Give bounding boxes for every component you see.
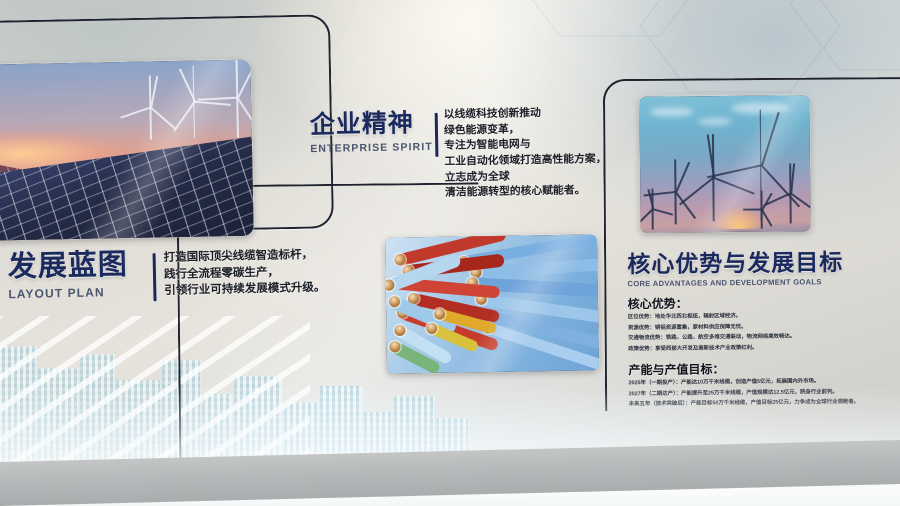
enterprise-spirit-heading-cn: 企业精神 xyxy=(310,111,433,138)
core-advantages-heading-cn: 核心优势与发展目标 xyxy=(627,251,877,277)
layout-plan-heading-cn: 发展蓝图 xyxy=(8,251,129,283)
layout-plan-body-line: 引领行业可持续发展模式升级。 xyxy=(164,280,325,300)
layout-plan-heading-en: LAYOUT PLAN xyxy=(8,285,128,302)
enterprise-spirit-body-line: 清洁能源转型的核心赋能者。 xyxy=(445,183,607,201)
enterprise-spirit-body-line: 工业自动化领域打造高性能方案， xyxy=(444,152,606,170)
core-advantages-list: 区位优势：地处华北西北枢纽，辐射区域经济。 资源优势：铜铝资源富集，原材料供应保… xyxy=(628,310,878,355)
panel-layout-plan: 发展蓝图 LAYOUT PLAN 打造国际顶尖线缆智造标杆， 践行全流程零碳生产… xyxy=(8,251,129,302)
cable-bundle-photo xyxy=(385,234,599,373)
solar-farm-photo xyxy=(0,60,254,241)
panel-enterprise-spirit: 企业精神 ENTERPRISE SPIRIT 以线缆科技创新推动 绿色能源变革，… xyxy=(310,111,433,155)
core-advantages-list-item: 政策优势：享受西部大开发及高新技术产业政策红利。 xyxy=(628,341,878,354)
exhibition-wall-scene: 发展蓝图 LAYOUT PLAN 打造国际顶尖线缆智造标杆， 践行全流程零碳生产… xyxy=(0,0,900,506)
enterprise-spirit-heading-en: ENTERPRISE SPIRIT xyxy=(310,141,433,155)
wind-turbines-photo xyxy=(639,95,810,232)
layout-plan-body-line: 打造国际顶尖线缆智造标杆， xyxy=(163,247,324,267)
layout-plan-body: 打造国际顶尖线缆智造标杆， 践行全流程零碳生产， 引领行业可持续发展模式升级。 xyxy=(163,247,325,300)
enterprise-spirit-body: 以线缆科技创新推动 绿色能源变革， 专注为智能电网与 工业自动化领域打造高性能方… xyxy=(444,105,608,202)
core-advantages-heading-en: CORE ADVANTAGES AND DEVELOPMENT GOALS xyxy=(627,277,877,289)
